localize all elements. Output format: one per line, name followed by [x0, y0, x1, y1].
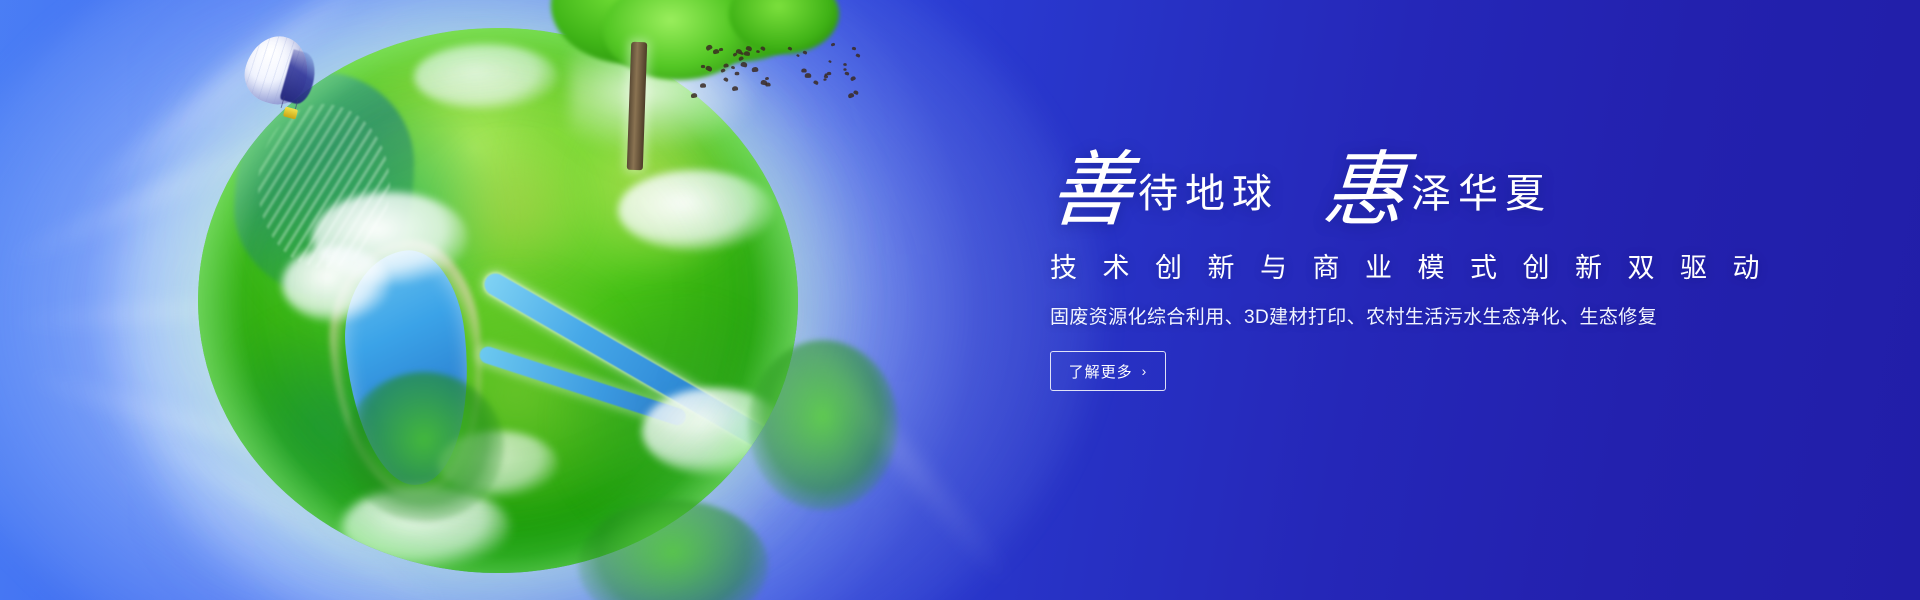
headline-text-secondary: 泽华夏: [1411, 174, 1552, 230]
bird-icon: [823, 78, 827, 81]
bird-icon: [737, 56, 743, 62]
bird-icon: [719, 48, 724, 52]
bird-icon: [801, 68, 806, 72]
learn-more-button[interactable]: 了解更多 ›: [1050, 351, 1166, 391]
bird-icon: [760, 46, 766, 52]
bird-icon: [731, 66, 735, 70]
bird-icon: [700, 83, 706, 88]
bird-icon: [734, 71, 739, 75]
bird-icon: [850, 76, 856, 82]
hero-banner: 善 待地球 惠 泽华夏 技 术 创 新 与 商 业 模 式 创 新 双 驱 动 …: [0, 0, 1920, 600]
bird-icon: [751, 67, 758, 73]
hot-air-balloon-icon: [240, 36, 318, 128]
bird-icon: [731, 86, 738, 91]
bird-icon: [788, 46, 793, 51]
tree-icon: [344, 372, 504, 522]
bird-icon: [813, 79, 819, 85]
bird-icon: [803, 50, 808, 55]
bird-icon: [764, 77, 768, 81]
bird-icon: [845, 71, 850, 76]
bird-icon: [804, 73, 810, 78]
chevron-right-icon: ›: [1142, 364, 1148, 378]
headline-text-primary: 待地球: [1138, 174, 1279, 230]
bird-icon: [843, 63, 847, 66]
bird-icon: [705, 43, 713, 50]
learn-more-label: 了解更多: [1069, 361, 1133, 382]
bird-icon: [744, 51, 750, 56]
birds-flock-icon: [690, 42, 860, 104]
tree-icon: [748, 340, 898, 510]
bird-icon: [852, 47, 857, 51]
bird-icon: [724, 63, 730, 68]
bird-icon: [721, 68, 726, 73]
bird-icon: [843, 68, 846, 70]
bird-icon: [831, 43, 836, 47]
bird-icon: [700, 65, 704, 68]
bird-icon: [756, 50, 760, 53]
bird-icon: [705, 65, 713, 72]
bird-icon: [853, 89, 859, 95]
page-title: 善 待地球 惠 泽华夏: [1050, 120, 1810, 230]
bird-icon: [691, 93, 698, 99]
tagline: 固废资源化综合利用、3D建材打印、农村生活污水生态净化、生态修复: [1050, 302, 1810, 329]
bird-icon: [828, 60, 832, 63]
headline-char-primary: 善: [1047, 152, 1134, 230]
bird-icon: [740, 61, 748, 68]
hero-content: 善 待地球 惠 泽华夏 技 术 创 新 与 商 业 模 式 创 新 双 驱 动 …: [1050, 120, 1810, 391]
bird-icon: [796, 53, 800, 56]
bird-icon: [723, 76, 729, 81]
bird-icon: [855, 53, 860, 58]
headline-char-secondary: 惠: [1320, 152, 1407, 230]
subtitle: 技 术 创 新 与 商 业 模 式 创 新 双 驱 动: [1050, 246, 1810, 285]
